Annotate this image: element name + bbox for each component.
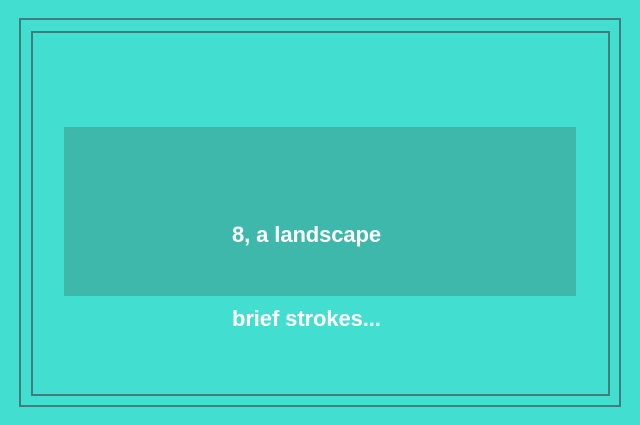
caption-line-2: brief strokes... [232, 298, 562, 340]
caption-text-block: 8, a landscape brief strokes... [232, 172, 562, 382]
slide-canvas: 8, a landscape brief strokes... [0, 0, 640, 425]
caption-line-1: 8, a landscape [232, 214, 562, 256]
caption-panel: 8, a landscape brief strokes... [64, 127, 576, 296]
